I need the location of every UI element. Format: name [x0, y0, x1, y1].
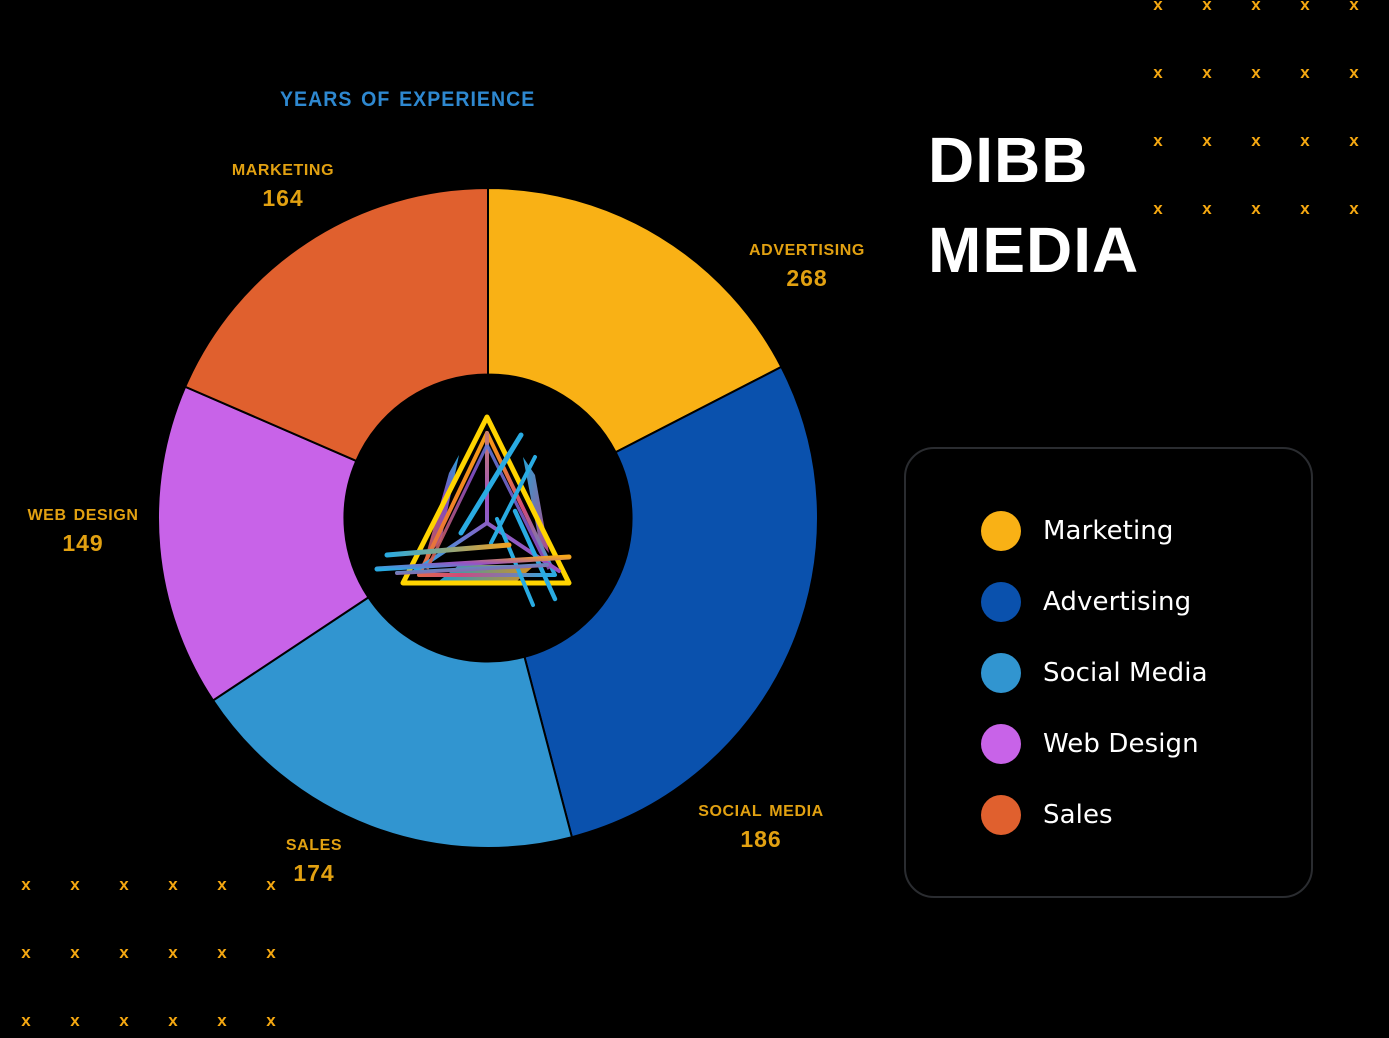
x-mark: x — [118, 876, 130, 944]
x-mark: x — [1152, 64, 1164, 132]
slice-label-marketing-name: Marketing — [232, 154, 334, 180]
dibb-media-triangle-logo — [363, 393, 613, 643]
x-mark: x — [1152, 200, 1164, 268]
x-mark: x — [1201, 132, 1213, 200]
x-mark: x — [20, 1012, 32, 1038]
x-mark: x — [265, 1012, 277, 1038]
legend-color-swatch — [981, 511, 1021, 551]
donut-chart — [158, 188, 818, 848]
x-mark: x — [1299, 200, 1311, 268]
x-mark: x — [265, 876, 277, 944]
brand-line-1: Dibb — [928, 106, 1139, 196]
x-mark: x — [167, 876, 179, 944]
slice-label-marketing: Marketing 164 — [218, 152, 348, 214]
x-mark: x — [1348, 132, 1360, 200]
brand-line-2: Media — [928, 196, 1139, 286]
brand-wordmark: Dibb Media — [928, 106, 1139, 286]
slice-label-marketing-value: 164 — [218, 183, 348, 214]
slice-label-sales-name: Sales — [286, 829, 342, 855]
decorative-x-grid-bottom-left: xxxxxxxxxxxxxxxxxx — [20, 876, 314, 1038]
legend-item-label: Advertising — [1043, 587, 1191, 617]
legend-item-label: Marketing — [1043, 516, 1173, 546]
x-mark: x — [20, 876, 32, 944]
legend-color-swatch — [981, 653, 1021, 693]
x-mark: x — [216, 944, 228, 1012]
x-mark: x — [1299, 0, 1311, 64]
legend-item-web-design[interactable]: Web Design — [981, 724, 1311, 764]
x-mark: x — [216, 876, 228, 944]
legend-color-swatch — [981, 582, 1021, 622]
x-mark: x — [1250, 64, 1262, 132]
x-mark: x — [118, 944, 130, 1012]
legend-item-label: Social Media — [1043, 658, 1208, 688]
legend-item-sales[interactable]: Sales — [981, 795, 1311, 835]
x-mark: x — [69, 944, 81, 1012]
x-mark: x — [69, 876, 81, 944]
chart-title: Years of Experience — [280, 80, 535, 114]
legend-item-label: Web Design — [1043, 729, 1199, 759]
legend-item-marketing[interactable]: Marketing — [981, 511, 1311, 551]
x-mark: x — [69, 1012, 81, 1038]
x-mark: x — [1348, 0, 1360, 64]
x-mark: x — [118, 1012, 130, 1038]
x-mark: x — [1250, 0, 1262, 64]
x-mark: x — [167, 1012, 179, 1038]
chart-legend: MarketingAdvertisingSocial MediaWeb Desi… — [904, 447, 1313, 898]
x-mark: x — [1201, 64, 1213, 132]
slice-label-social-media: Social Media 186 — [690, 793, 832, 855]
x-mark: x — [1152, 132, 1164, 200]
slice-label-advertising-name: Advertising — [749, 234, 865, 260]
x-mark: x — [216, 1012, 228, 1038]
legend-item-social-media[interactable]: Social Media — [981, 653, 1311, 693]
infographic-canvas: xxxxxxxxxxxxxxxxxxxx Years of Experience — [0, 0, 1389, 1038]
slice-label-advertising: Advertising 268 — [741, 232, 873, 294]
slice-label-advertising-value: 268 — [741, 263, 873, 294]
x-mark: x — [1250, 132, 1262, 200]
x-mark: x — [1201, 200, 1213, 268]
x-mark: x — [1201, 0, 1213, 64]
legend-item-advertising[interactable]: Advertising — [981, 582, 1311, 622]
x-mark: x — [167, 944, 179, 1012]
x-mark: x — [1299, 64, 1311, 132]
slice-label-social-media-value: 186 — [690, 824, 832, 855]
legend-item-label: Sales — [1043, 800, 1113, 830]
x-mark: x — [265, 944, 277, 1012]
x-mark: x — [1299, 132, 1311, 200]
decorative-x-grid-top-right: xxxxxxxxxxxxxxxxxxxx — [1152, 0, 1389, 268]
x-mark: x — [20, 944, 32, 1012]
slice-label-web-design: Web Design 149 — [18, 497, 148, 559]
slice-label-web-design-name: Web Design — [27, 499, 138, 525]
legend-color-swatch — [981, 795, 1021, 835]
slice-label-social-media-name: Social Media — [698, 795, 824, 821]
x-mark: x — [1348, 64, 1360, 132]
slice-label-web-design-value: 149 — [18, 528, 148, 559]
legend-color-swatch — [981, 724, 1021, 764]
x-mark: x — [1250, 200, 1262, 268]
x-mark: x — [1152, 0, 1164, 64]
x-mark: x — [1348, 200, 1360, 268]
